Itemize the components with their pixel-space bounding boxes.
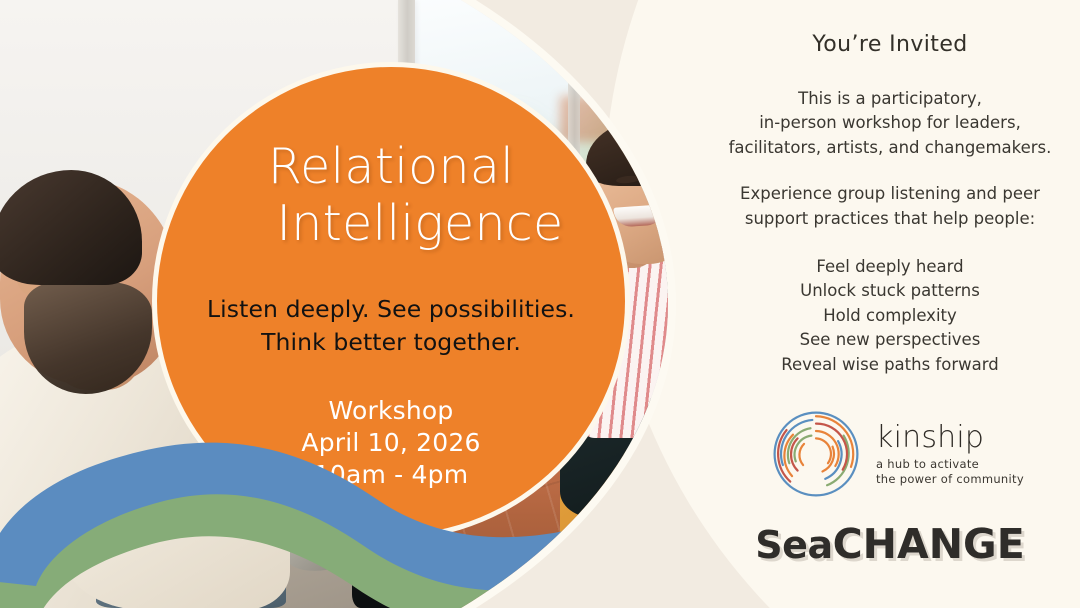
seachange-part-2: CHANGE [833, 520, 1025, 568]
invite-p2-line-1: Experience group listening and peer [700, 182, 1080, 206]
kinship-logo: kinship a hub to activate the power of c… [770, 406, 1030, 502]
tagline-line-1: Listen deeply. See possibilities. [207, 293, 575, 326]
concentric-rings-icon [770, 408, 862, 500]
circle-content: Relational Intelligence Listen deeply. S… [157, 67, 625, 535]
kinship-name: kinship [876, 423, 1024, 453]
seachange-logo: SeaCHANGE [700, 520, 1080, 568]
invite-p2-line-2: support practices that help people: [700, 207, 1080, 231]
list-item: Feel deeply heard [700, 255, 1080, 279]
invite-paragraph-1: This is a participatory, in-person works… [700, 87, 1080, 160]
invite-p1-line-1: This is a participatory, [700, 87, 1080, 111]
tagline-line-2: Think better together. [207, 326, 575, 359]
page-title: Relational Intelligence [183, 139, 599, 253]
tagline: Listen deeply. See possibilities. Think … [207, 293, 575, 360]
kinship-tagline: a hub to activate the power of community [876, 457, 1024, 487]
event-type: Workshop [301, 395, 480, 427]
list-item: Unlock stuck patterns [700, 279, 1080, 303]
event-details: Workshop April 10, 2026 10am - 4pm [301, 395, 480, 491]
invite-heading: You’re Invited [700, 32, 1080, 57]
title-line-1: Relational [268, 138, 514, 195]
invite-paragraph-2: Experience group listening and peer supp… [700, 182, 1080, 231]
kinship-wordmark: kinship a hub to activate the power of c… [876, 421, 1024, 487]
invite-p1-line-3: facilitators, artists, and changemakers. [700, 136, 1080, 160]
kinship-tagline-line-1: a hub to activate [876, 457, 1024, 472]
event-date: April 10, 2026 [301, 427, 480, 459]
invite-p1-line-2: in-person workshop for leaders, [700, 111, 1080, 135]
seachange-part-1: Sea [755, 523, 832, 567]
flyer-canvas: Relational Intelligence Listen deeply. S… [0, 0, 1080, 608]
kinship-tagline-line-2: the power of community [876, 472, 1024, 487]
invite-column: You’re Invited This is a participatory, … [700, 0, 1080, 608]
benefits-list: Feel deeply heard Unlock stuck patterns … [700, 255, 1080, 377]
list-item: Reveal wise paths forward [700, 353, 1080, 377]
title-line-2: Intelligence [183, 196, 599, 253]
event-time: 10am - 4pm [301, 459, 480, 491]
list-item: See new perspectives [700, 328, 1080, 352]
list-item: Hold complexity [700, 304, 1080, 328]
